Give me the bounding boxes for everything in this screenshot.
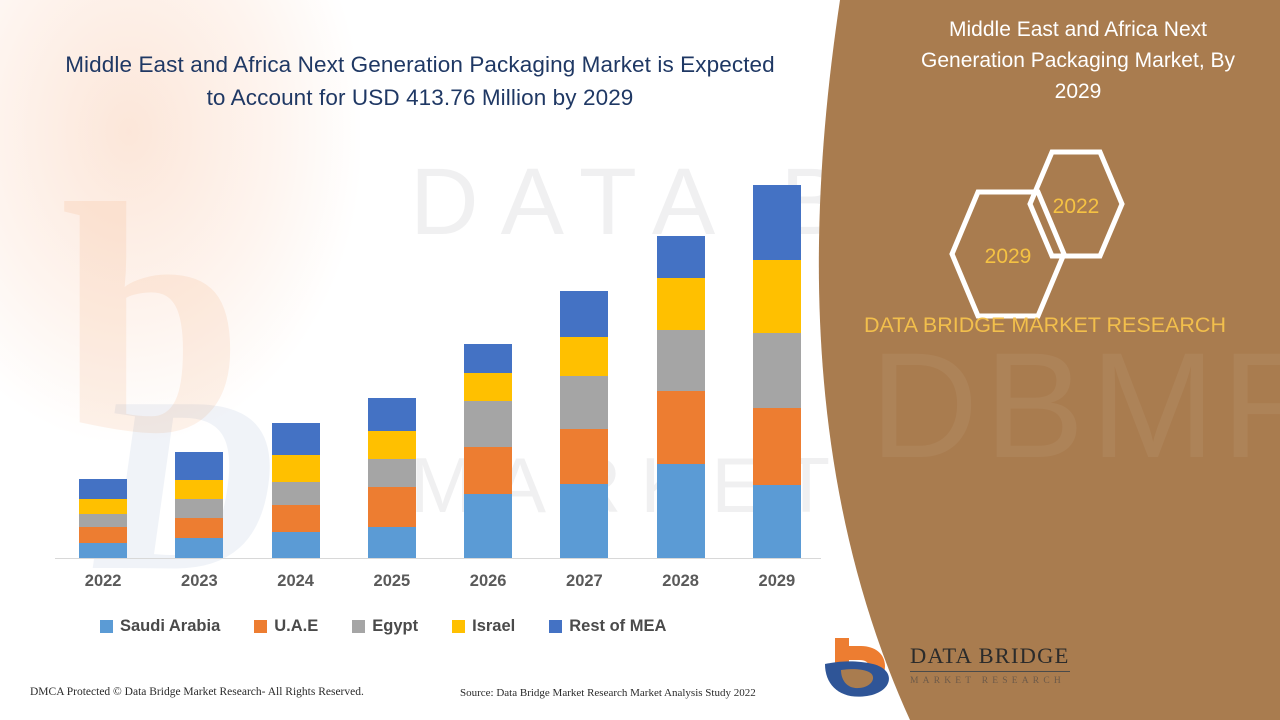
bar-slot xyxy=(344,150,440,558)
bar-segment-egypt[interactable] xyxy=(657,330,705,391)
legend-swatch-icon xyxy=(549,620,562,633)
bar-segment-egypt[interactable] xyxy=(464,401,512,447)
brand-panel-watermark: DBMR xyxy=(870,330,1280,480)
bar-segment-saudiarabia[interactable] xyxy=(464,494,512,558)
brand-panel-title: Middle East and Africa Next Generation P… xyxy=(908,14,1248,107)
chart-panel: b D DATA BRIDGE MARKET RESEARCH Middle E… xyxy=(0,0,930,720)
bar-segment-uae[interactable] xyxy=(657,391,705,464)
bar-segment-egypt[interactable] xyxy=(368,459,416,487)
brand-panel: DBMR Middle East and Africa Next Generat… xyxy=(810,0,1280,720)
legend-label: Israel xyxy=(472,617,515,636)
bar-segment-israel[interactable] xyxy=(272,455,320,482)
bar-segment-saudiarabia[interactable] xyxy=(175,538,223,558)
bar-segment-uae[interactable] xyxy=(272,505,320,532)
bar-segment-uae[interactable] xyxy=(560,429,608,484)
bar-segment-restofmea[interactable] xyxy=(464,344,512,373)
bar-segment-saudiarabia[interactable] xyxy=(560,484,608,558)
stacked-bar-2029[interactable] xyxy=(753,185,801,558)
hexagon-2022-label: 2022 xyxy=(1026,148,1126,265)
bar-segment-restofmea[interactable] xyxy=(272,423,320,455)
legend-label: U.A.E xyxy=(274,617,318,636)
bar-slot xyxy=(440,150,536,558)
bar-segment-egypt[interactable] xyxy=(175,499,223,518)
hexagon-2022: 2022 xyxy=(1026,148,1126,265)
bar-slot xyxy=(633,150,729,558)
bar-segment-israel[interactable] xyxy=(657,278,705,330)
legend-label: Rest of MEA xyxy=(569,617,666,636)
bar-segment-uae[interactable] xyxy=(368,487,416,527)
bar-segment-israel[interactable] xyxy=(464,373,512,401)
bar-segment-egypt[interactable] xyxy=(79,514,127,527)
legend-swatch-icon xyxy=(352,620,365,633)
legend-item-saudiarabia[interactable]: Saudi Arabia xyxy=(100,617,220,636)
bar-segment-restofmea[interactable] xyxy=(753,185,801,260)
legend-item-uae[interactable]: U.A.E xyxy=(254,617,318,636)
stacked-bar-2027[interactable] xyxy=(560,291,608,558)
bar-segment-restofmea[interactable] xyxy=(657,236,705,278)
bar-segment-egypt[interactable] xyxy=(560,376,608,429)
bar-segment-restofmea[interactable] xyxy=(368,398,416,431)
x-tick-2026: 2026 xyxy=(440,572,536,591)
bar-slot xyxy=(151,150,247,558)
bar-group xyxy=(55,150,825,558)
legend-item-restofmea[interactable]: Rest of MEA xyxy=(549,617,666,636)
bar-segment-saudiarabia[interactable] xyxy=(79,543,127,558)
legend-label: Egypt xyxy=(372,617,418,636)
legend-item-israel[interactable]: Israel xyxy=(452,617,515,636)
chart-plot-area xyxy=(55,150,825,559)
bar-segment-egypt[interactable] xyxy=(272,482,320,505)
x-tick-2028: 2028 xyxy=(633,572,729,591)
bar-segment-israel[interactable] xyxy=(175,480,223,499)
bar-segment-israel[interactable] xyxy=(79,499,127,514)
bar-segment-saudiarabia[interactable] xyxy=(368,527,416,558)
bar-segment-uae[interactable] xyxy=(464,447,512,494)
bar-segment-saudiarabia[interactable] xyxy=(657,464,705,558)
legend-swatch-icon xyxy=(100,620,113,633)
stacked-bar-2026[interactable] xyxy=(464,344,512,558)
bar-segment-israel[interactable] xyxy=(368,431,416,459)
bar-segment-egypt[interactable] xyxy=(753,333,801,408)
copyright-notice: DMCA Protected © Data Bridge Market Rese… xyxy=(30,686,364,698)
bar-segment-uae[interactable] xyxy=(753,408,801,485)
chart-legend: Saudi ArabiaU.A.EEgyptIsraelRest of MEA xyxy=(100,617,800,636)
stacked-bar-2025[interactable] xyxy=(368,398,416,558)
bar-segment-restofmea[interactable] xyxy=(79,479,127,499)
logo-text-block: DATA BRIDGE MARKET RESEARCH xyxy=(910,643,1070,686)
legend-label: Saudi Arabia xyxy=(120,617,220,636)
bar-segment-uae[interactable] xyxy=(79,527,127,543)
legend-swatch-icon xyxy=(452,620,465,633)
bar-segment-israel[interactable] xyxy=(560,337,608,376)
bar-slot xyxy=(55,150,151,558)
x-axis-tick-labels: 20222023202420252026202720282029 xyxy=(55,572,825,591)
bar-slot xyxy=(536,150,632,558)
stacked-bar-2023[interactable] xyxy=(175,452,223,558)
x-axis-line xyxy=(55,558,821,559)
x-tick-2025: 2025 xyxy=(344,572,440,591)
bar-segment-restofmea[interactable] xyxy=(560,291,608,337)
x-tick-2027: 2027 xyxy=(536,572,632,591)
brand-name: DATA BRIDGE MARKET RESEARCH xyxy=(850,310,1240,341)
bar-segment-saudiarabia[interactable] xyxy=(753,485,801,558)
stacked-bar-2024[interactable] xyxy=(272,423,320,558)
stacked-bar-2028[interactable] xyxy=(657,236,705,558)
bar-segment-restofmea[interactable] xyxy=(175,452,223,480)
x-tick-2023: 2023 xyxy=(151,572,247,591)
source-note: Source: Data Bridge Market Research Mark… xyxy=(460,687,756,699)
logo-name: DATA BRIDGE xyxy=(910,643,1070,672)
legend-item-egypt[interactable]: Egypt xyxy=(352,617,418,636)
x-tick-2022: 2022 xyxy=(55,572,151,591)
legend-swatch-icon xyxy=(254,620,267,633)
bar-segment-saudiarabia[interactable] xyxy=(272,532,320,558)
logo-tagline: MARKET RESEARCH xyxy=(910,676,1070,686)
x-tick-2024: 2024 xyxy=(248,572,344,591)
bar-slot xyxy=(248,150,344,558)
page-title: Middle East and Africa Next Generation P… xyxy=(60,48,780,114)
bar-segment-uae[interactable] xyxy=(175,518,223,538)
stacked-bar-2022[interactable] xyxy=(79,479,127,558)
bar-segment-israel[interactable] xyxy=(753,260,801,333)
